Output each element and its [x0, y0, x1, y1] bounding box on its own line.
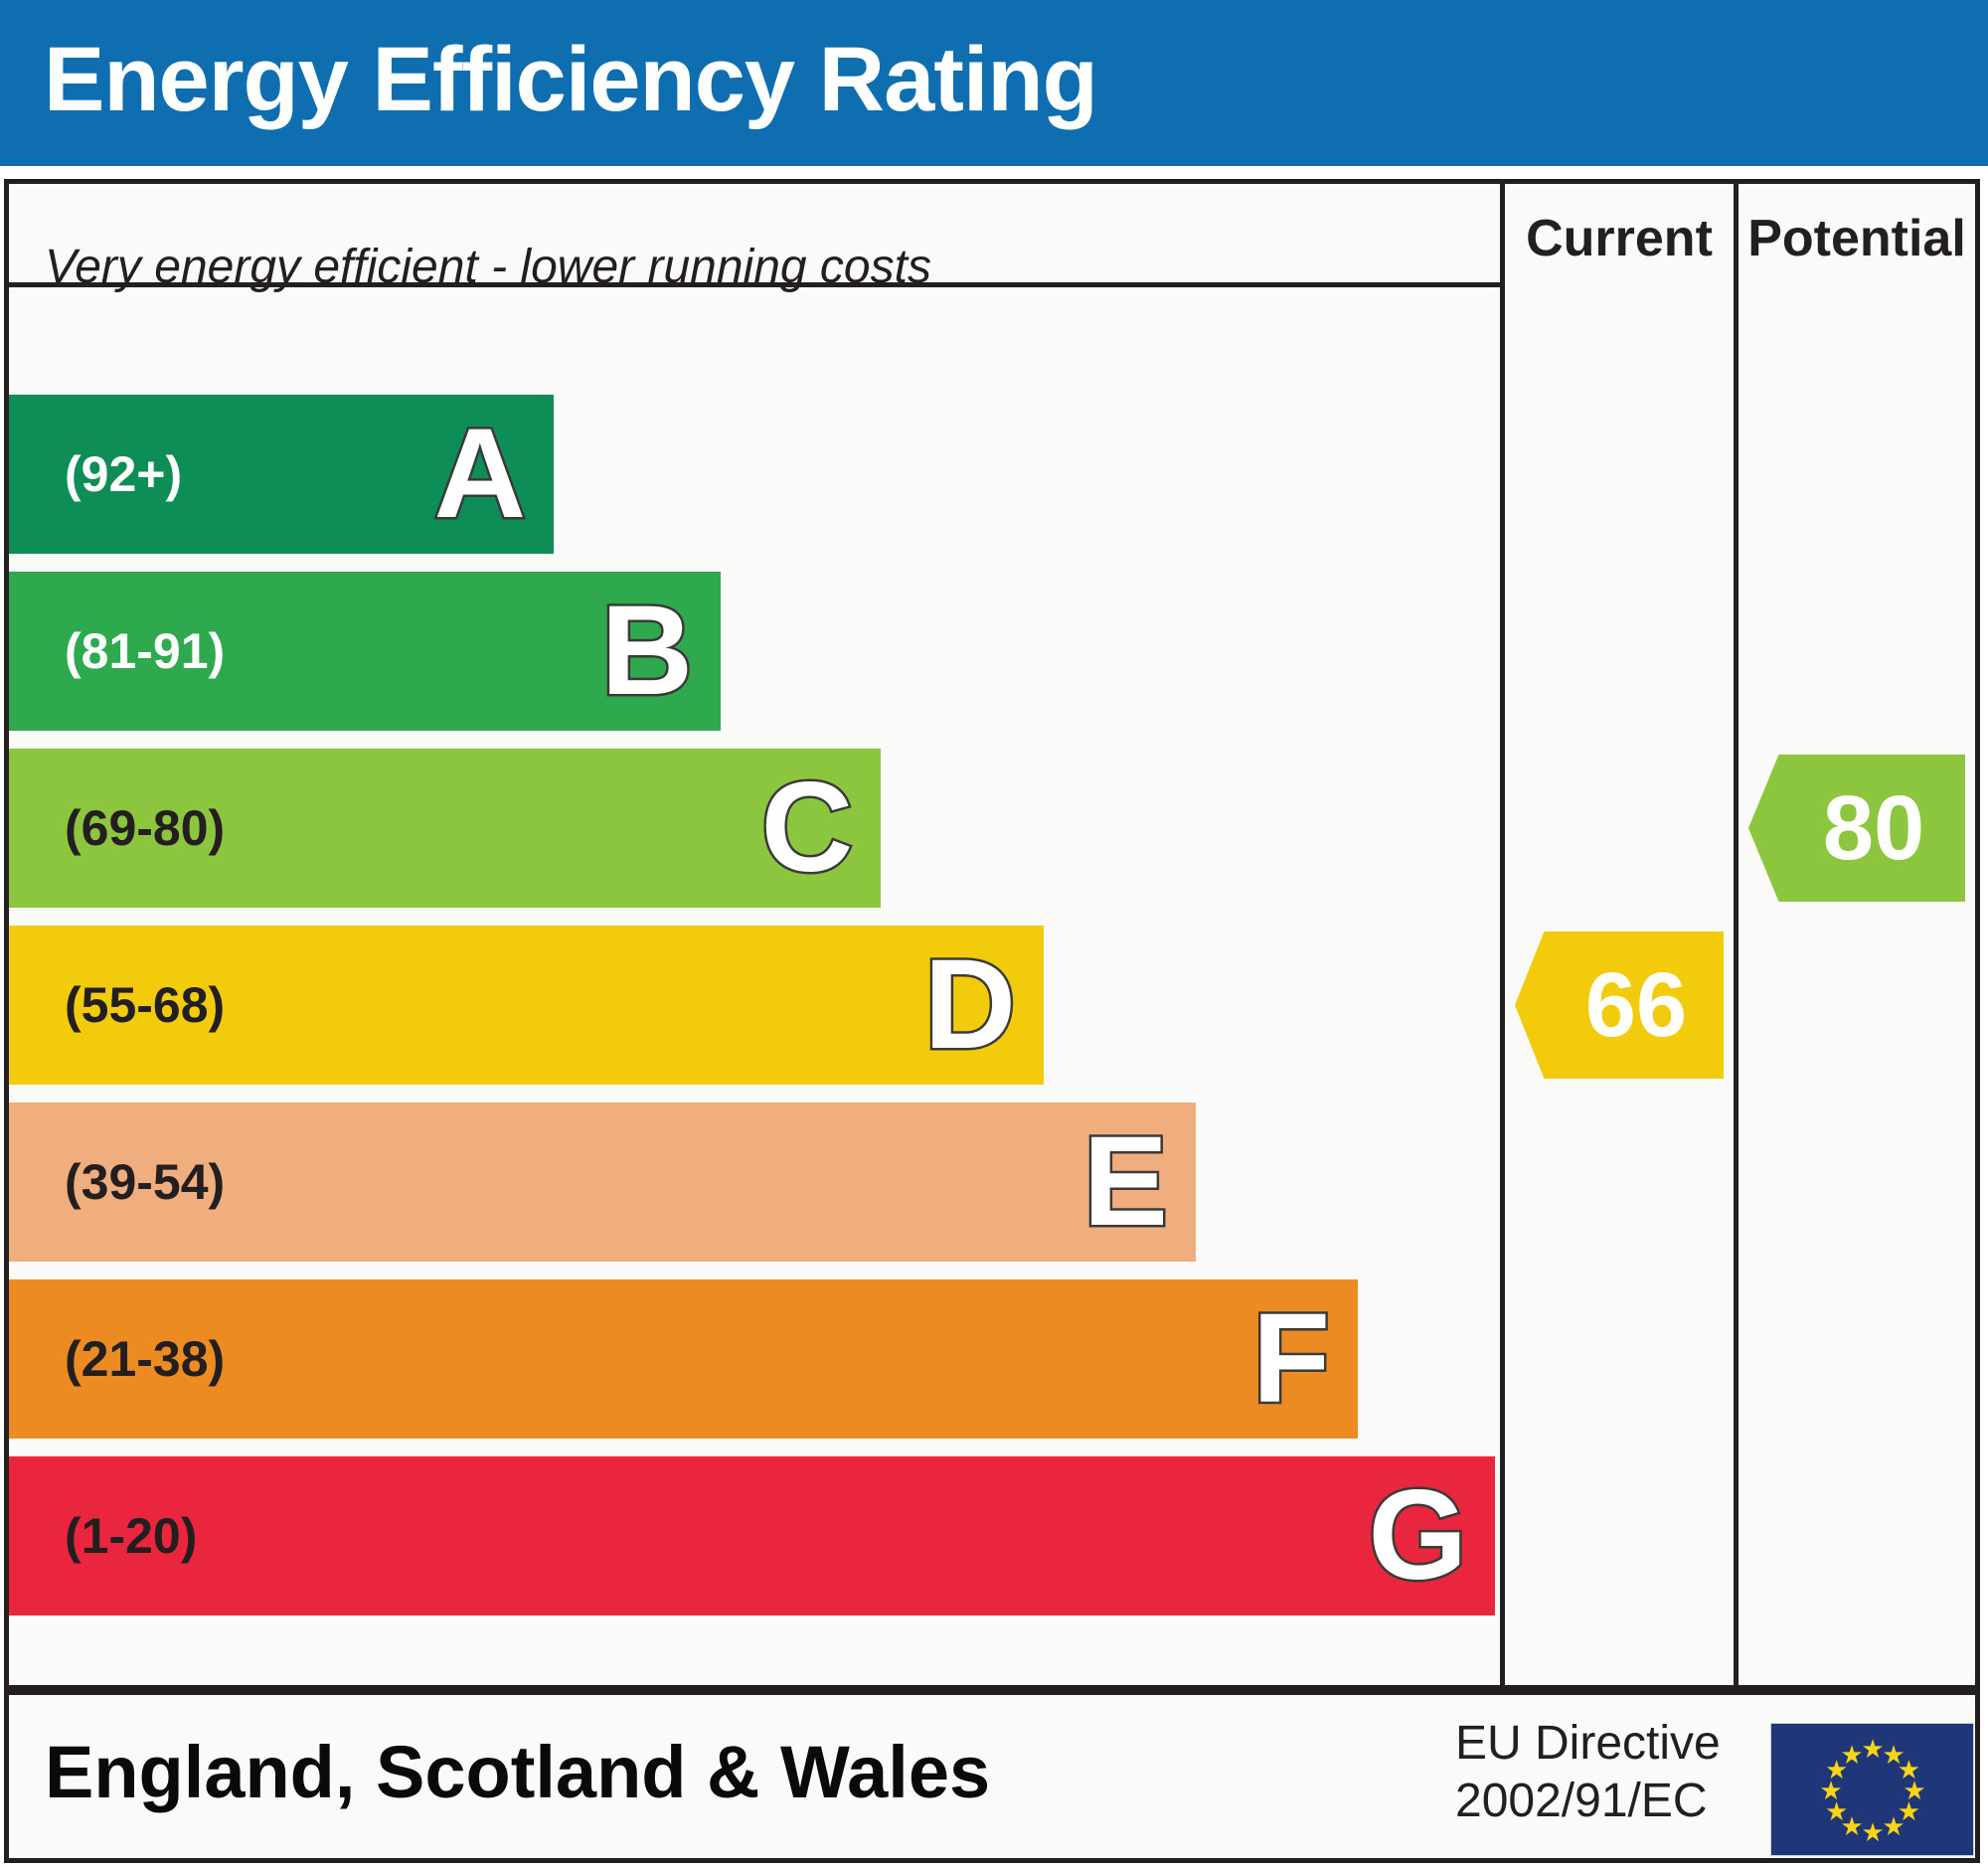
band-letter-b: B	[601, 588, 693, 715]
band-range-c: (69-80)	[65, 749, 225, 908]
footer-region-label: England, Scotland & Wales	[45, 1721, 990, 1824]
rating-marker-current: 66	[1515, 932, 1724, 1079]
band-letter-f: F	[1252, 1295, 1330, 1423]
band-letter-a: A	[434, 411, 526, 538]
eu-flag-star: ★	[1839, 1742, 1865, 1768]
band-letter-c: C	[761, 764, 853, 892]
potential-column-divider	[1734, 184, 1739, 1685]
column-header-current: Current	[1505, 204, 1734, 273]
band-e: (39-54)E	[9, 1103, 1196, 1262]
page-title: Energy Efficiency Rating	[44, 20, 1097, 139]
band-letter-d: D	[924, 941, 1016, 1069]
band-range-e: (39-54)	[65, 1103, 225, 1262]
band-b: (81-91)B	[9, 572, 721, 731]
title-bar: Energy Efficiency Rating	[0, 0, 1988, 166]
band-range-d: (55-68)	[65, 926, 225, 1085]
footer-directive: EU Directive 2002/91/EC	[1455, 1715, 1721, 1830]
rating-value-current: 66	[1552, 959, 1687, 1051]
chart-footer: England, Scotland & Wales EU Directive 2…	[4, 1690, 1980, 1863]
band-letter-e: E	[1083, 1118, 1168, 1246]
directive-line-1: EU Directive	[1455, 1715, 1721, 1773]
band-a: (92+)A	[9, 395, 554, 554]
band-f: (21-38)F	[9, 1279, 1358, 1439]
rating-bands: (92+)A(81-91)B(69-80)C(55-68)D(39-54)E(2…	[9, 184, 1500, 1685]
band-range-g: (1-20)	[65, 1456, 197, 1615]
band-letter-g: G	[1368, 1472, 1467, 1600]
band-range-b: (81-91)	[65, 572, 225, 731]
column-header-potential: Potential	[1739, 204, 1975, 273]
band-c: (69-80)C	[9, 749, 881, 908]
band-g: (1-20)G	[9, 1456, 1495, 1615]
epc-energy-efficiency-chart: Energy Efficiency Rating Current Potenti…	[0, 0, 1988, 1867]
current-column-divider	[1500, 184, 1505, 1685]
band-range-f: (21-38)	[65, 1279, 225, 1439]
rating-marker-potential: 80	[1748, 755, 1965, 902]
directive-line-2: 2002/91/EC	[1455, 1773, 1721, 1830]
band-d: (55-68)D	[9, 926, 1044, 1085]
eu-flag-icon: ★★★★★★★★★★★★	[1770, 1723, 1974, 1856]
band-range-a: (92+)	[65, 395, 182, 554]
chart-frame: Current Potential Very energy efficient …	[4, 179, 1980, 1690]
rating-value-potential: 80	[1789, 782, 1924, 874]
